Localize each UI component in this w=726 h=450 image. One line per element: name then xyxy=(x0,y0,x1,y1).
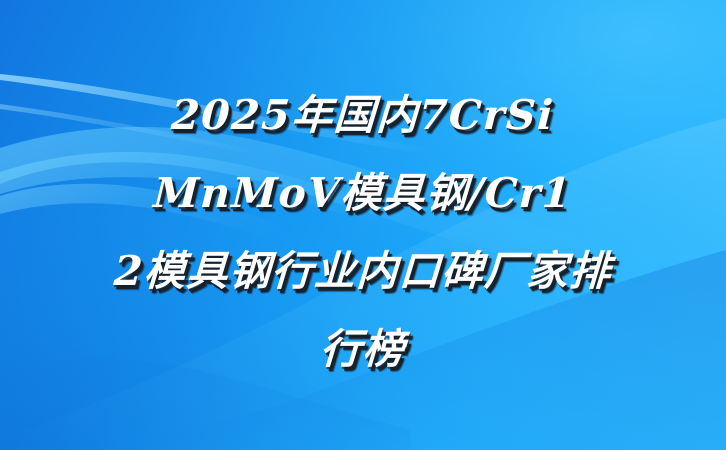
banner-title: 2025年国内7CrSi MnMoV模具钢/Cr1 2模具钢行业内口碑厂家排 行… xyxy=(114,76,612,388)
title-line-4: 行榜 xyxy=(112,310,614,388)
title-line-3: 2模具钢行业内口碑厂家排 xyxy=(112,232,614,310)
promo-banner: 2025年国内7CrSi MnMoV模具钢/Cr1 2模具钢行业内口碑厂家排 行… xyxy=(0,0,726,450)
title-line-2: MnMoV模具钢/Cr1 xyxy=(112,154,614,232)
title-container: 2025年国内7CrSi MnMoV模具钢/Cr1 2模具钢行业内口碑厂家排 行… xyxy=(0,0,726,450)
title-line-1: 2025年国内7CrSi xyxy=(112,76,614,154)
